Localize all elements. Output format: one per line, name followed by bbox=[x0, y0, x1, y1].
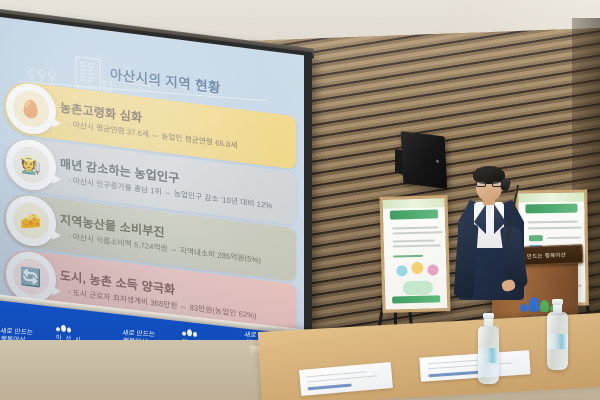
bottle-label bbox=[547, 334, 568, 349]
poster-text-line bbox=[392, 226, 438, 229]
poster-left-header bbox=[390, 209, 438, 219]
egg-face-icon: 🥚 bbox=[6, 81, 56, 137]
poster-text-line bbox=[528, 221, 578, 223]
egg-face-glyph: 🥚 bbox=[13, 89, 49, 130]
wall-speaker-icon bbox=[401, 131, 448, 189]
poster-text-line bbox=[393, 244, 441, 247]
farmer-hat-icon: 🧑‍🌾 bbox=[6, 137, 56, 193]
photo-scene: 아산시의 지역 현황 🥚 bbox=[0, 0, 600, 400]
water-bottle-left bbox=[478, 326, 499, 384]
bottle-label bbox=[478, 348, 499, 363]
glasses-icon bbox=[476, 181, 502, 187]
poster-text-line bbox=[547, 237, 581, 239]
poster-right-header bbox=[525, 204, 577, 214]
farmer-hat-glyph: 🧑‍🌾 bbox=[13, 145, 49, 186]
poster-text-line bbox=[393, 239, 435, 242]
poster-diagram-node bbox=[427, 264, 438, 275]
poster-top-band bbox=[518, 193, 584, 203]
water-bottle-right bbox=[547, 312, 568, 370]
poster-diagram-band bbox=[403, 281, 433, 296]
poster-tag bbox=[529, 235, 543, 241]
microphone-icon bbox=[500, 177, 512, 192]
poster-text-line bbox=[392, 231, 442, 234]
poster-diagram-node bbox=[396, 265, 407, 276]
poster-text-line bbox=[528, 227, 582, 229]
coin-produce-glyph: 🧀 bbox=[13, 201, 49, 242]
poster-board-left bbox=[379, 195, 450, 313]
coin-produce-icon: 🧀 bbox=[6, 193, 56, 249]
balance-arrows-glyph: 🔄 bbox=[13, 257, 49, 298]
poster-left-footer bbox=[392, 295, 440, 303]
poster-subhead bbox=[393, 255, 423, 258]
poster-top-band bbox=[383, 198, 445, 209]
poster-diagram-node bbox=[411, 262, 423, 274]
